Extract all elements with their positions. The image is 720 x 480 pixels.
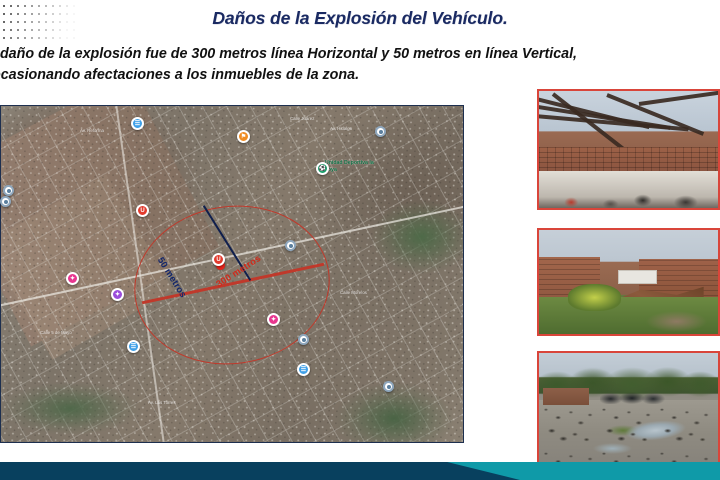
photo-debris-street-image bbox=[539, 353, 718, 471]
pin-ring-south[interactable] bbox=[383, 381, 394, 392]
street-4: Calle Morelos bbox=[340, 290, 367, 295]
grid-dot bbox=[17, 37, 19, 39]
pin-blue-top[interactable]: ☰ bbox=[131, 117, 144, 130]
roof-debris bbox=[539, 189, 718, 208]
pin-red-center[interactable]: U bbox=[212, 253, 225, 266]
grid-dot bbox=[38, 29, 40, 31]
pin-blue-south[interactable]: ☰ bbox=[297, 363, 310, 376]
pin-ring-southeast[interactable] bbox=[298, 334, 309, 345]
grid-dot bbox=[24, 5, 26, 7]
grid-dot bbox=[66, 29, 68, 31]
grid-dot bbox=[73, 37, 75, 39]
slide-canvas: Daños de la Explosión del Vehículo. l da… bbox=[0, 0, 720, 480]
street-5: Av. Las Torres bbox=[148, 400, 176, 405]
street-3: Av. Hidalgo bbox=[330, 126, 352, 131]
grid-dot bbox=[17, 5, 19, 7]
pin-pink-west[interactable]: ✦ bbox=[66, 272, 79, 285]
grid-dot bbox=[31, 29, 33, 31]
grid-dot bbox=[73, 29, 75, 31]
grid-dot bbox=[10, 5, 12, 7]
grid-dot bbox=[52, 29, 54, 31]
grid-dot bbox=[24, 29, 26, 31]
pin-ring-topright[interactable] bbox=[375, 126, 386, 137]
garden-dirt-patch bbox=[646, 311, 707, 332]
grid-dot bbox=[31, 5, 33, 7]
pin-blue-southwest[interactable]: ☰ bbox=[127, 340, 140, 353]
body-text: l daño de la explosión fue de 300 metros… bbox=[0, 44, 720, 86]
house-window bbox=[618, 270, 657, 285]
photo-damaged-house[interactable] bbox=[537, 228, 720, 336]
grid-dot bbox=[59, 5, 61, 7]
map-vegetation-southeast bbox=[334, 382, 454, 443]
grid-dot bbox=[17, 29, 19, 31]
photo-damaged-roof-image bbox=[539, 91, 718, 208]
pin-red-northwest[interactable]: U bbox=[136, 204, 149, 217]
photo-debris-street[interactable] bbox=[537, 351, 720, 473]
pin-violet-west[interactable]: ✦ bbox=[111, 288, 124, 301]
street-1: Av. Reforma bbox=[80, 128, 104, 133]
photo-damaged-house-image bbox=[539, 230, 718, 334]
photo-damaged-roof[interactable] bbox=[537, 89, 720, 210]
grid-dot bbox=[24, 37, 26, 39]
grid-dot bbox=[73, 5, 75, 7]
grid-dot bbox=[52, 5, 54, 7]
grid-dot bbox=[3, 29, 5, 31]
bar-navy-band bbox=[0, 462, 520, 480]
pin-ring-right[interactable] bbox=[285, 240, 296, 251]
grid-dot bbox=[52, 37, 54, 39]
grid-dot bbox=[38, 5, 40, 7]
street-6: Calle 5 de Mayo bbox=[40, 330, 72, 335]
page-title: Daños de la Explosión del Vehículo. bbox=[0, 8, 720, 29]
map-label-park: Unidad Deportiva la Joya bbox=[325, 160, 377, 173]
grid-dot bbox=[45, 37, 47, 39]
roof-beams bbox=[539, 91, 718, 152]
grid-dot bbox=[38, 37, 40, 39]
pin-ring-left[interactable] bbox=[3, 185, 14, 196]
grid-dot bbox=[10, 37, 12, 39]
brick-wall bbox=[539, 147, 718, 173]
bottom-decoration-bar bbox=[0, 462, 720, 480]
grid-dot bbox=[10, 29, 12, 31]
grid-dot bbox=[59, 37, 61, 39]
grid-dot bbox=[66, 37, 68, 39]
pin-pink-east[interactable]: ✦ bbox=[267, 313, 280, 326]
grid-dot bbox=[31, 37, 33, 39]
grid-dot bbox=[59, 29, 61, 31]
pin-ring-midright[interactable] bbox=[0, 196, 11, 207]
pin-green-park[interactable]: ⚽ bbox=[316, 162, 329, 175]
grid-dot bbox=[45, 29, 47, 31]
grid-dot bbox=[66, 5, 68, 7]
grid-dot bbox=[45, 5, 47, 7]
grid-dot bbox=[3, 37, 5, 39]
pin-orange[interactable]: ⚑ bbox=[237, 130, 250, 143]
street-scattered-debris bbox=[539, 400, 718, 471]
garden-shrub bbox=[568, 284, 622, 311]
street-2: Calle Juárez bbox=[290, 116, 314, 121]
map-vegetation-southwest bbox=[1, 382, 140, 436]
grid-dot bbox=[3, 5, 5, 7]
